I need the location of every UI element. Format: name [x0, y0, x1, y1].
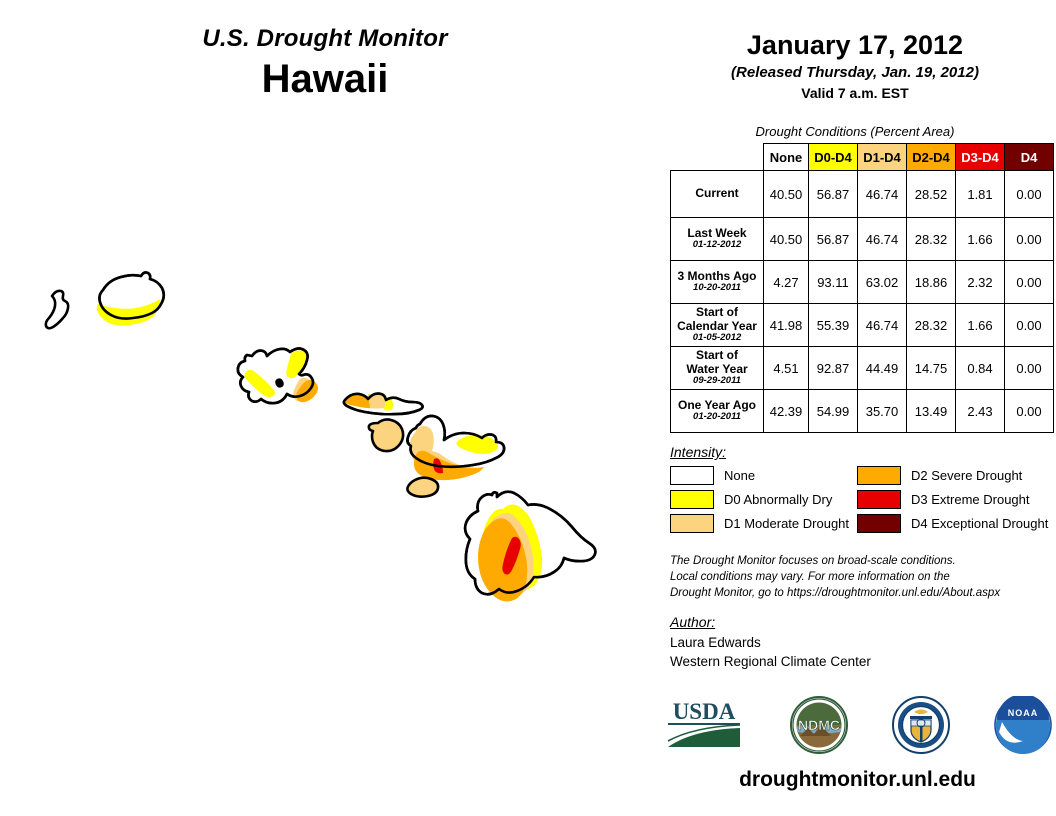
legend-item-d4: D4 Exceptional Drought	[857, 514, 1048, 533]
cell-d2-d4: 14.75	[907, 347, 956, 390]
cell-d4: 0.00	[1005, 261, 1054, 304]
island-kauai	[97, 272, 164, 325]
legend-swatch-d3	[857, 490, 901, 509]
intensity-heading: Intensity:	[670, 444, 1045, 460]
cell-d1-d4: 46.74	[858, 218, 907, 261]
disclaimer-text: The Drought Monitor focuses on broad-sca…	[670, 554, 1050, 602]
disclaimer-line-2: Local conditions may vary. For more info…	[670, 570, 1050, 586]
table-row: Start ofWater Year09-29-20114.5192.8744.…	[671, 347, 1054, 390]
island-niihau	[46, 291, 68, 328]
row-label: Start ofWater Year09-29-2011	[671, 347, 764, 390]
row-label-date: 01-20-2011	[671, 412, 763, 423]
row-label: 3 Months Ago10-20-2011	[671, 261, 764, 304]
legend-swatch-none	[670, 466, 714, 485]
island-lanai	[369, 419, 403, 451]
cell-none: 40.50	[764, 171, 809, 218]
cell-d0-d4: 56.87	[809, 218, 858, 261]
row-label-name: Current	[671, 187, 763, 200]
legend-item-d0: D0 Abnormally Dry	[670, 490, 849, 509]
svg-text:USDA: USDA	[673, 699, 736, 724]
cell-d2-d4: 28.32	[907, 218, 956, 261]
cell-d3-d4: 2.32	[956, 261, 1005, 304]
svg-text:NOAA: NOAA	[1008, 708, 1039, 718]
legend-swatch-d4	[857, 514, 901, 533]
legend-swatch-d1	[670, 514, 714, 533]
legend-label-d0: D0 Abnormally Dry	[724, 492, 832, 507]
row-label: One Year Ago01-20-2011	[671, 390, 764, 433]
column-header-d3-d4: D3-D4	[956, 144, 1005, 171]
cell-d4: 0.00	[1005, 304, 1054, 347]
cell-d3-d4: 2.43	[956, 390, 1005, 433]
table-row: Current40.5056.8746.7428.521.810.00	[671, 171, 1054, 218]
cell-d1-d4: 44.49	[858, 347, 907, 390]
cell-d4: 0.00	[1005, 171, 1054, 218]
table-corner-cell	[671, 144, 764, 171]
cell-d4: 0.00	[1005, 390, 1054, 433]
partner-logos: USDA NDMC NOAA	[662, 692, 1052, 758]
cell-d3-d4: 0.84	[956, 347, 1005, 390]
legend-item-d1: D1 Moderate Drought	[670, 514, 849, 533]
usdc-seal	[892, 696, 950, 754]
intensity-legend: Intensity: NoneD2 Severe DroughtD0 Abnor…	[670, 444, 1045, 533]
cell-none: 4.27	[764, 261, 809, 304]
table-caption: Drought Conditions (Percent Area)	[665, 124, 1045, 139]
cell-none: 41.98	[764, 304, 809, 347]
disclaimer-line-3: Drought Monitor, go to https://droughtmo…	[670, 586, 1050, 602]
drought-conditions-table: None D0-D4 D1-D4 D2-D4 D3-D4 D4 Current4…	[670, 143, 1054, 433]
cell-d3-d4: 1.81	[956, 171, 1005, 218]
island-maui	[407, 416, 504, 480]
noaa-logo: NOAA	[994, 696, 1052, 754]
hawaii-drought-map	[0, 0, 660, 816]
legend-label-d1: D1 Moderate Drought	[724, 516, 849, 531]
legend-item-d3: D3 Extreme Drought	[857, 490, 1048, 509]
island-oahu	[238, 348, 318, 403]
cell-none: 42.39	[764, 390, 809, 433]
cell-d2-d4: 28.52	[907, 171, 956, 218]
author-name: Laura Edwards	[670, 634, 1050, 653]
author-affiliation: Western Regional Climate Center	[670, 653, 1050, 672]
row-label-date: 01-12-2012	[671, 240, 763, 251]
cell-d2-d4: 18.86	[907, 261, 956, 304]
table-row: Last Week01-12-201240.5056.8746.7428.321…	[671, 218, 1054, 261]
svg-text:NDMC: NDMC	[798, 717, 840, 733]
author-block: Author: Laura Edwards Western Regional C…	[670, 614, 1050, 672]
column-header-d0-d4: D0-D4	[809, 144, 858, 171]
cell-d4: 0.00	[1005, 218, 1054, 261]
ndmc-logo: NDMC	[790, 696, 848, 754]
cell-d1-d4: 46.74	[858, 171, 907, 218]
date-block: January 17, 2012 (Released Thursday, Jan…	[665, 30, 1045, 101]
release-date: (Released Thursday, Jan. 19, 2012)	[665, 64, 1045, 81]
legend-item-none: None	[670, 466, 849, 485]
column-header-d1-d4: D1-D4	[858, 144, 907, 171]
table-header-row: None D0-D4 D1-D4 D2-D4 D3-D4 D4	[671, 144, 1054, 171]
valid-date: January 17, 2012	[665, 30, 1045, 61]
legend-label-d4: D4 Exceptional Drought	[911, 516, 1048, 531]
legend-label-none: None	[724, 468, 755, 483]
row-label: Start ofCalendar Year01-05-2012	[671, 304, 764, 347]
cell-none: 40.50	[764, 218, 809, 261]
legend-swatch-d0	[670, 490, 714, 509]
row-label-name: Last Week	[671, 227, 763, 240]
cell-d1-d4: 63.02	[858, 261, 907, 304]
row-label-name: Start ofWater Year	[671, 349, 763, 376]
column-header-d4: D4	[1005, 144, 1054, 171]
column-header-none: None	[764, 144, 809, 171]
cell-d2-d4: 28.32	[907, 304, 956, 347]
author-heading: Author:	[670, 614, 1050, 630]
table-row: 3 Months Ago10-20-20114.2793.1163.0218.8…	[671, 261, 1054, 304]
cell-d0-d4: 54.99	[809, 390, 858, 433]
legend-label-d2: D2 Severe Drought	[911, 468, 1022, 483]
cell-d4: 0.00	[1005, 347, 1054, 390]
legend-label-d3: D3 Extreme Drought	[911, 492, 1030, 507]
table-row: Start ofCalendar Year01-05-201241.9855.3…	[671, 304, 1054, 347]
valid-time: Valid 7 a.m. EST	[665, 85, 1045, 101]
row-label: Last Week01-12-2012	[671, 218, 764, 261]
legend-swatch-d2	[857, 466, 901, 485]
usda-logo: USDA	[662, 697, 746, 753]
disclaimer-line-1: The Drought Monitor focuses on broad-sca…	[670, 554, 1050, 570]
island-molokai	[343, 394, 423, 415]
row-label: Current	[671, 171, 764, 218]
cell-d0-d4: 56.87	[809, 171, 858, 218]
row-label-date: 09-29-2011	[671, 376, 763, 387]
cell-d3-d4: 1.66	[956, 218, 1005, 261]
table-row: One Year Ago01-20-201142.3954.9935.7013.…	[671, 390, 1054, 433]
cell-d0-d4: 55.39	[809, 304, 858, 347]
island-kahoolawe	[407, 478, 438, 497]
cell-d0-d4: 92.87	[809, 347, 858, 390]
row-label-date: 01-05-2012	[671, 333, 763, 344]
cell-d0-d4: 93.11	[809, 261, 858, 304]
footer-url: droughtmonitor.unl.edu	[665, 768, 1050, 792]
cell-d1-d4: 46.74	[858, 304, 907, 347]
cell-none: 4.51	[764, 347, 809, 390]
cell-d2-d4: 13.49	[907, 390, 956, 433]
row-label-name: Start ofCalendar Year	[671, 306, 763, 333]
island-hawaii-big-island	[465, 492, 595, 602]
column-header-d2-d4: D2-D4	[907, 144, 956, 171]
legend-item-d2: D2 Severe Drought	[857, 466, 1048, 485]
cell-d3-d4: 1.66	[956, 304, 1005, 347]
row-label-name: One Year Ago	[671, 399, 763, 412]
row-label-date: 10-20-2011	[671, 283, 763, 294]
row-label-name: 3 Months Ago	[671, 270, 763, 283]
cell-d1-d4: 35.70	[858, 390, 907, 433]
